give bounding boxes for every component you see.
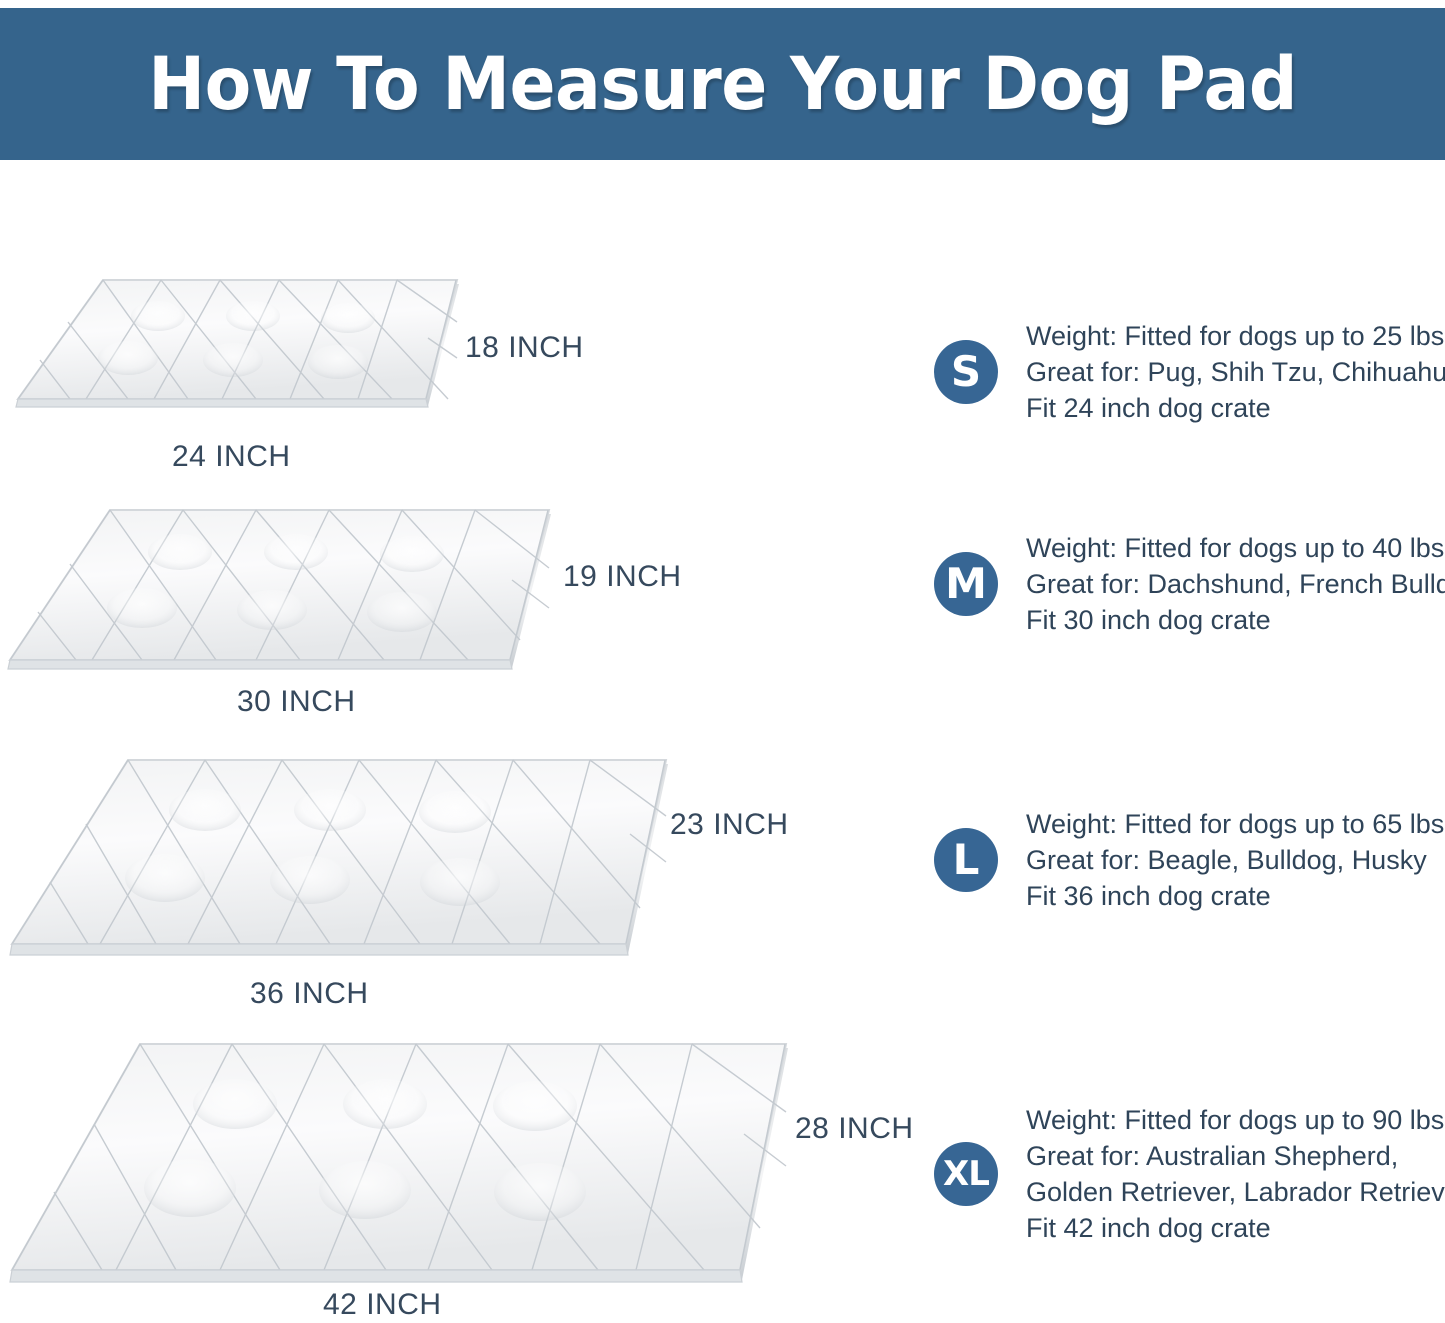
width-label-small: 24 INCH xyxy=(172,440,291,474)
quilted-pad-icon xyxy=(0,508,560,693)
width-label-xlarge: 42 INCH xyxy=(323,1288,442,1322)
quilted-pad-icon xyxy=(8,278,468,443)
pad-image-medium xyxy=(0,508,560,693)
quilted-pad-icon xyxy=(0,1042,800,1292)
info-line-breeds: Great for: Pug, Shih Tzu, Chihuahua xyxy=(1026,354,1445,390)
width-label-medium: 30 INCH xyxy=(237,685,356,719)
info-line-weight: Weight: Fitted for dogs up to 90 lbs xyxy=(1026,1102,1445,1138)
info-line-breeds: Great for: Dachshund, French Bulldog xyxy=(1026,566,1445,602)
size-info-lines-medium: Weight: Fitted for dogs up to 40 lbs Gre… xyxy=(1026,530,1445,638)
depth-label-small: 18 INCH xyxy=(465,331,584,365)
size-info-xlarge: XL Weight: Fitted for dogs up to 90 lbs … xyxy=(934,1102,1445,1246)
size-info-lines-large: Weight: Fitted for dogs up to 65 lbs Gre… xyxy=(1026,806,1444,914)
quilted-pad-icon xyxy=(0,758,680,973)
header-banner: How To Measure Your Dog Pad xyxy=(0,8,1445,160)
size-badge-xl: XL xyxy=(934,1142,998,1206)
info-line-crate: Fit 24 inch dog crate xyxy=(1026,390,1445,426)
size-info-small: S Weight: Fitted for dogs up to 25 lbs G… xyxy=(934,318,1445,426)
width-label-large: 36 INCH xyxy=(250,977,369,1011)
info-line-crate: Fit 36 inch dog crate xyxy=(1026,878,1444,914)
info-line-crate: Fit 42 inch dog crate xyxy=(1026,1210,1445,1246)
info-line-weight: Weight: Fitted for dogs up to 40 lbs xyxy=(1026,530,1445,566)
info-line-weight: Weight: Fitted for dogs up to 25 lbs xyxy=(1026,318,1445,354)
info-line-weight: Weight: Fitted for dogs up to 65 lbs xyxy=(1026,806,1444,842)
size-badge-m: M xyxy=(934,552,998,616)
pad-image-small xyxy=(8,278,468,443)
info-line-breeds-1: Great for: Australian Shepherd, xyxy=(1026,1138,1445,1174)
size-info-lines-xlarge: Weight: Fitted for dogs up to 90 lbs Gre… xyxy=(1026,1102,1445,1246)
size-info-medium: M Weight: Fitted for dogs up to 40 lbs G… xyxy=(934,530,1445,638)
size-badge-l: L xyxy=(934,828,998,892)
size-info-lines-small: Weight: Fitted for dogs up to 25 lbs Gre… xyxy=(1026,318,1445,426)
pad-image-xlarge xyxy=(0,1042,800,1292)
size-badge-s: S xyxy=(934,340,998,404)
size-info-large: L Weight: Fitted for dogs up to 65 lbs G… xyxy=(934,806,1444,914)
info-line-breeds-2: Golden Retriever, Labrador Retriever xyxy=(1026,1174,1445,1210)
depth-label-xlarge: 28 INCH xyxy=(795,1112,914,1146)
info-line-breeds: Great for: Beagle, Bulldog, Husky xyxy=(1026,842,1444,878)
depth-label-medium: 19 INCH xyxy=(563,560,682,594)
page-title: How To Measure Your Dog Pad xyxy=(148,48,1297,121)
pad-image-large xyxy=(0,758,680,973)
info-line-crate: Fit 30 inch dog crate xyxy=(1026,602,1445,638)
depth-label-large: 23 INCH xyxy=(670,808,789,842)
